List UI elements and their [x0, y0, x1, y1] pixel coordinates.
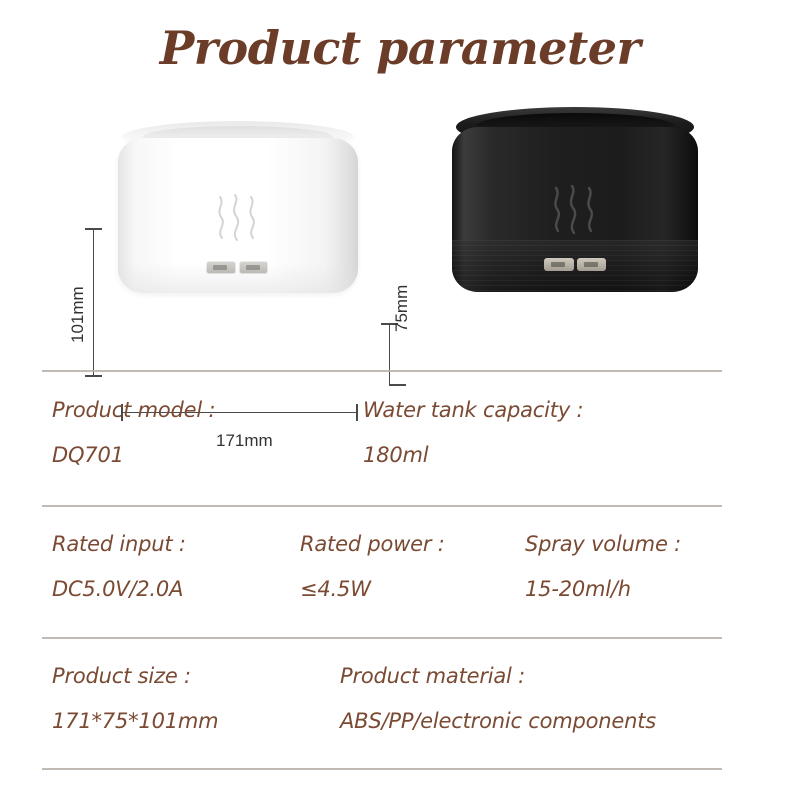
spec-cell-rated-input: Rated input : DC5.0V/2.0A: [52, 532, 186, 601]
depth-dimension-label: 75mm: [392, 285, 412, 332]
spec-key: Rated power :: [300, 532, 445, 556]
white-device-button-row: [206, 261, 268, 274]
mode-button-pad[interactable]: [577, 258, 607, 271]
table-divider: [42, 768, 722, 770]
spec-key: Water tank capacity :: [363, 398, 583, 422]
spec-cell-product-material: Product material : ABS/PP/electronic com…: [340, 664, 656, 733]
spec-value: 171*75*101mm: [52, 709, 218, 733]
table-divider: [42, 370, 722, 372]
spec-value: 180ml: [363, 443, 583, 467]
black-device-button-row: [544, 258, 606, 271]
spec-cell-water-tank-capacity: Water tank capacity : 180ml: [363, 398, 583, 467]
spec-key: Spray volume :: [525, 532, 681, 556]
table-divider: [42, 637, 722, 639]
width-dimension-cap-right: [356, 404, 358, 421]
spec-value: DQ701: [52, 443, 215, 467]
depth-dimension-cap-bottom: [389, 384, 406, 386]
depth-dimension-line: [389, 323, 390, 386]
spec-key: Rated input :: [52, 532, 186, 556]
power-button-pad[interactable]: [206, 261, 236, 274]
height-dimension-label: 101mm: [68, 286, 88, 343]
product-showcase: 101mm 75mm 171mm: [0, 95, 800, 370]
white-humidifier-image: [118, 121, 358, 293]
spec-key: Product material :: [340, 664, 656, 688]
height-dimension-line: [93, 228, 94, 376]
spec-value: ≤4.5W: [300, 577, 445, 601]
spec-cell-spray-volume: Spray volume : 15-20ml/h: [525, 532, 681, 601]
width-dimension-label: 171mm: [216, 431, 273, 451]
page-title: Product parameter: [160, 21, 641, 75]
table-divider: [42, 505, 722, 507]
height-dimension-cap-bottom: [85, 375, 102, 377]
steam-waves-icon: [550, 185, 598, 234]
steam-waves-icon: [214, 194, 260, 241]
spec-value: ABS/PP/electronic components: [340, 709, 656, 733]
black-humidifier-image: [452, 107, 698, 292]
page-header: Product parameter: [0, 0, 800, 95]
spec-value: DC5.0V/2.0A: [52, 577, 186, 601]
spec-cell-product-size: Product size : 171*75*101mm: [52, 664, 218, 733]
spec-value: 15-20ml/h: [525, 577, 681, 601]
height-dimension-cap-top: [85, 228, 102, 230]
power-button-pad[interactable]: [544, 258, 574, 271]
spec-cell-rated-power: Rated power : ≤4.5W: [300, 532, 445, 601]
spec-key: Product size :: [52, 664, 218, 688]
mode-button-pad[interactable]: [239, 261, 269, 274]
spec-key: Product model :: [52, 398, 215, 422]
spec-cell-product-model: Product model : DQ701: [52, 398, 215, 467]
